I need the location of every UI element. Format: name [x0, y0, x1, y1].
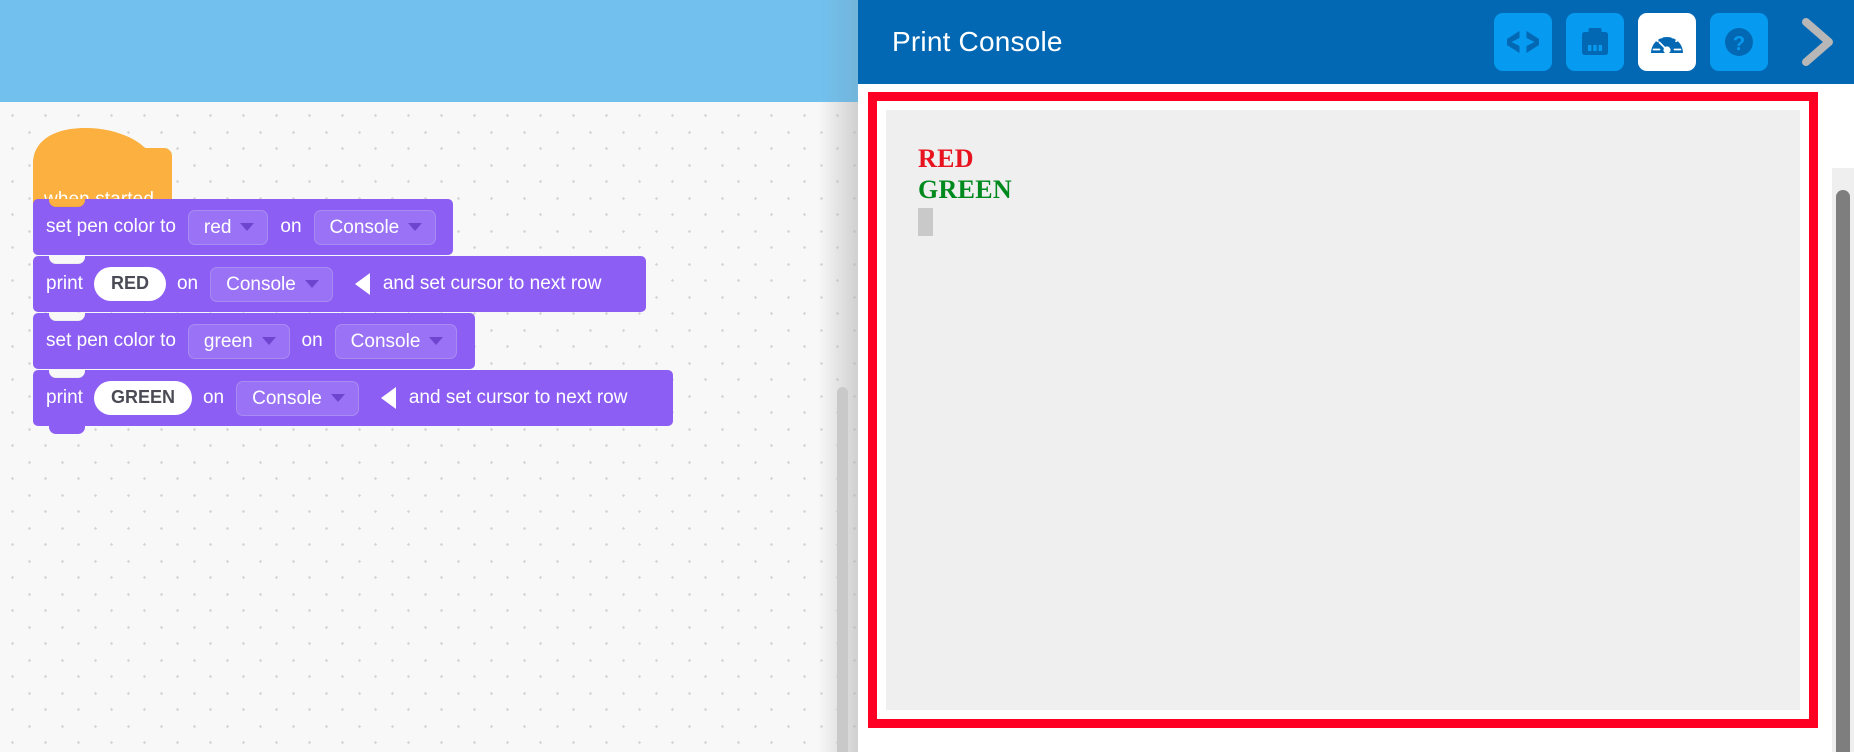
expand-panel-button[interactable] [1788, 13, 1844, 71]
dropdown-value: red [204, 218, 231, 237]
block-print-red[interactable]: print RED on Console and set cursor to n… [33, 256, 646, 312]
dashboard-gauge-button[interactable] [1638, 13, 1696, 71]
block-stack: set pen color to red on Console [33, 200, 673, 426]
block-editor-pane: when started set pen color to red on [0, 0, 858, 752]
console-line: RED [918, 144, 1800, 175]
text-input-green[interactable]: GREEN [94, 381, 192, 415]
svg-text:?: ? [1733, 33, 1745, 55]
block-label-lead: set pen color to [46, 330, 180, 352]
simulator-pane: Print Console [858, 0, 1854, 752]
dropdown-target-console-2[interactable]: Console [210, 267, 333, 302]
dropdown-value: Console [252, 389, 322, 408]
app-root: when started set pen color to red on [0, 0, 1854, 752]
console-cursor [918, 208, 933, 236]
blocks-canvas[interactable]: when started set pen color to red on [0, 102, 858, 752]
chevron-right-icon [1796, 18, 1836, 66]
console-output[interactable]: RED GREEN [886, 110, 1800, 710]
console-line: GREEN [918, 175, 1800, 206]
block-label-on: on [276, 216, 305, 238]
block-set-pen-color-green[interactable]: set pen color to green on Console [33, 313, 475, 369]
block-label-on: on [298, 330, 327, 352]
block-notch-top [49, 370, 85, 378]
workspace-vertical-scrollbar[interactable] [837, 387, 848, 752]
block-label-lead: set pen color to [46, 216, 180, 238]
dropdown-target-console-3[interactable]: Console [335, 324, 458, 359]
dropdown-pen-color-green[interactable]: green [188, 324, 290, 359]
block-stack-container: when started set pen color to red on [0, 102, 858, 752]
block-label-on: on [199, 387, 228, 409]
block-label-on: on [173, 273, 202, 295]
chevron-down-icon [408, 223, 422, 231]
block-notch-top [49, 256, 85, 264]
triangle-left-icon [355, 273, 370, 295]
block-notch-top [49, 313, 85, 321]
block-notch-top [49, 199, 85, 207]
code-view-button[interactable] [1494, 13, 1552, 71]
block-label-trailing: and set cursor to next row [379, 273, 606, 295]
block-label-lead: print [46, 387, 87, 409]
dropdown-value: green [204, 332, 253, 351]
block-label-lead: print [46, 273, 87, 295]
block-notch-bottom [49, 425, 85, 434]
header-icon-group: ? [1494, 13, 1844, 71]
text-input-red[interactable]: RED [94, 267, 166, 301]
data-viewer-button[interactable] [1566, 13, 1624, 71]
code-icon [1506, 29, 1540, 55]
console-container: RED GREEN [858, 84, 1854, 752]
help-button[interactable]: ? [1710, 13, 1768, 71]
page-vertical-scrollbar[interactable] [1836, 190, 1850, 752]
simulator-header: Print Console [858, 0, 1854, 84]
dashboard-gauge-icon [1649, 28, 1685, 56]
triangle-left-icon [381, 387, 396, 409]
help-icon: ? [1722, 25, 1756, 59]
block-set-pen-color-red[interactable]: set pen color to red on Console [33, 199, 453, 255]
editor-toolbar-strip [0, 0, 858, 102]
console-highlight-frame: RED GREEN [868, 92, 1818, 728]
page-title: Print Console [892, 26, 1063, 58]
block-label-trailing: and set cursor to next row [405, 387, 632, 409]
block-print-green[interactable]: print GREEN on Console and set cursor to… [33, 370, 673, 426]
dropdown-target-console-4[interactable]: Console [236, 381, 359, 416]
dropdown-value: Console [351, 332, 421, 351]
dropdown-target-console-1[interactable]: Console [314, 210, 437, 245]
dropdown-pen-color-red[interactable]: red [188, 210, 268, 245]
chevron-down-icon [262, 337, 276, 345]
dropdown-value: Console [330, 218, 400, 237]
chevron-down-icon [305, 280, 319, 288]
dropdown-value: Console [226, 275, 296, 294]
chevron-down-icon [331, 394, 345, 402]
data-viewer-icon [1579, 26, 1611, 58]
chevron-down-icon [429, 337, 443, 345]
chevron-down-icon [240, 223, 254, 231]
